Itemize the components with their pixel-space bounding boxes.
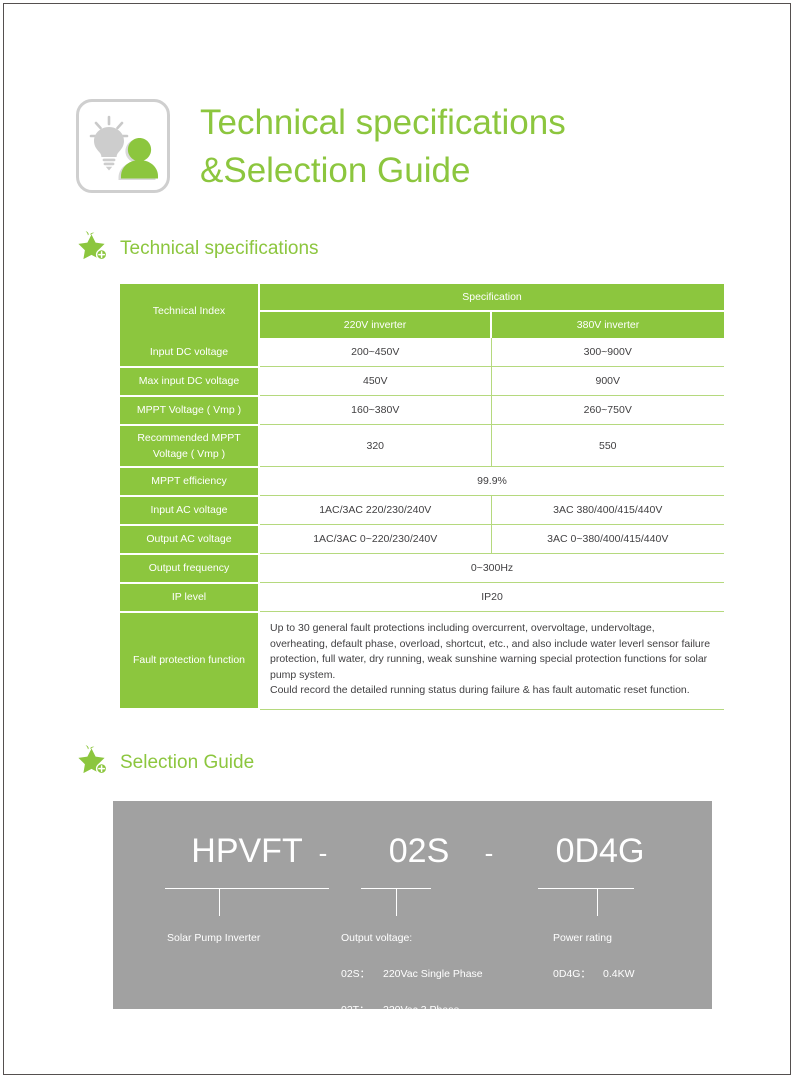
row-index: MPPT Voltage ( Vmp )	[120, 396, 259, 425]
fault-paragraph-2: Could record the detailed running status…	[270, 683, 712, 699]
model-code-part-3: 0D4G	[525, 829, 675, 873]
section-label-technical: Technical specifications	[120, 238, 319, 260]
row-index: Input DC voltage	[120, 338, 259, 367]
legend-item-desc: 380Vac 3 Phase	[383, 1040, 459, 1052]
table-row: Output AC voltage 1AC/3AC 0~220/230/240V…	[120, 525, 724, 554]
legend-title: Output voltage:	[341, 929, 551, 947]
legend-item-desc: 220Vac 3 Phase	[383, 1004, 459, 1016]
row-value-220v: 1AC/3AC 220/230/240V	[259, 496, 491, 525]
header-column-380v: 380V inverter	[491, 311, 724, 338]
row-value-220v: 160~380V	[259, 396, 491, 425]
page-header: Technical specifications &Selection Guid…	[76, 99, 716, 205]
row-value-380v: 3AC 380/400/415/440V	[491, 496, 724, 525]
row-index: Output frequency	[120, 554, 259, 583]
legend-item: 02T：220Vac 3 Phase	[341, 1001, 551, 1019]
leader-line-3	[538, 888, 634, 889]
page-title: Technical specifications &Selection Guid…	[200, 99, 566, 195]
star-plus-icon	[74, 230, 112, 268]
legend-item-code: 04T：	[341, 1037, 383, 1055]
fault-protection-description: Up to 30 general fault protections inclu…	[259, 612, 724, 710]
star-plus-icon	[74, 744, 112, 782]
row-index: Input AC voltage	[120, 496, 259, 525]
table-row: MPPT efficiency 99.9%	[120, 467, 724, 496]
legend-group-3: Power rating 0D4G：0.4KW	[553, 911, 703, 1001]
legend-item-code: 0D4G：	[553, 965, 603, 983]
legend-item-code: 02S：	[341, 965, 383, 983]
section-label-selection: Selection Guide	[120, 752, 254, 774]
row-index: IP level	[120, 583, 259, 612]
model-code-separator-1: -	[303, 831, 343, 875]
header-column-220v: 220V inverter	[259, 311, 491, 338]
row-value-220v: 320	[259, 425, 491, 467]
row-value-380v: 3AC 0~380/400/415/440V	[491, 525, 724, 554]
technical-specifications-table: Technical Index Specification 220V inver…	[120, 284, 724, 710]
legend-group-2: Output voltage: 02S：220Vac Single Phase …	[341, 911, 551, 1073]
row-index: Output AC voltage	[120, 525, 259, 554]
section-heading-selection: Selection Guide	[74, 744, 254, 782]
table-row: Output frequency 0~300Hz	[120, 554, 724, 583]
legend-item-desc: 220Vac Single Phase	[383, 968, 483, 980]
table-header-row: Technical Index Specification	[120, 284, 724, 311]
legend-item-code: 02T：	[341, 1001, 383, 1019]
legend-item: 02S：220Vac Single Phase	[341, 965, 551, 983]
model-code-part-2: 02S	[359, 829, 479, 873]
legend-item: 0D4G：0.4KW	[553, 965, 703, 983]
selection-guide-diagram: HPVFT - 02S - 0D4G Solar Pump Inverter O…	[113, 801, 712, 1009]
table-row-fault-protection: Fault protection function Up to 30 gener…	[120, 612, 724, 710]
model-code-row: HPVFT - 02S - 0D4G	[113, 829, 712, 875]
row-value-220v: 450V	[259, 367, 491, 396]
row-value-merged: IP20	[259, 583, 724, 612]
header-technical-index: Technical Index	[120, 284, 259, 338]
table-row: Input DC voltage 200~450V 300~900V	[120, 338, 724, 367]
row-value-220v: 200~450V	[259, 338, 491, 367]
table-row: Input AC voltage 1AC/3AC 220/230/240V 3A…	[120, 496, 724, 525]
row-value-380v: 900V	[491, 367, 724, 396]
row-index: Fault protection function	[120, 612, 259, 710]
fault-paragraph-1: Up to 30 general fault protections inclu…	[270, 621, 712, 683]
row-index: Max input DC voltage	[120, 367, 259, 396]
model-code-separator-2: -	[469, 831, 509, 875]
row-index: Recommended MPPT Voltage ( Vmp )	[120, 425, 259, 467]
row-index: MPPT efficiency	[120, 467, 259, 496]
table-row: IP level IP20	[120, 583, 724, 612]
section-heading-technical: Technical specifications	[74, 230, 319, 268]
page-content: Technical specifications &Selection Guid…	[0, 0, 794, 1078]
row-value-380v: 550	[491, 425, 724, 467]
row-value-merged: 99.9%	[259, 467, 724, 496]
legend-item-desc: 0.4KW	[603, 968, 635, 980]
legend-item: 04T：380Vac 3 Phase	[341, 1037, 551, 1055]
legend-title: Power rating	[553, 929, 703, 947]
table-row: MPPT Voltage ( Vmp ) 160~380V 260~750V	[120, 396, 724, 425]
row-value-merged: 0~300Hz	[259, 554, 724, 583]
lightbulb-person-icon	[76, 99, 170, 193]
table-row: Max input DC voltage 450V 900V	[120, 367, 724, 396]
row-value-380v: 300~900V	[491, 338, 724, 367]
leader-line-1	[165, 888, 329, 889]
row-value-380v: 260~750V	[491, 396, 724, 425]
logo-svg	[79, 102, 167, 190]
table-row: Recommended MPPT Voltage ( Vmp ) 320 550	[120, 425, 724, 467]
legend-title: Solar Pump Inverter	[167, 929, 337, 947]
legend-group-1: Solar Pump Inverter	[167, 911, 337, 965]
header-specification: Specification	[259, 284, 724, 311]
row-value-220v: 1AC/3AC 0~220/230/240V	[259, 525, 491, 554]
